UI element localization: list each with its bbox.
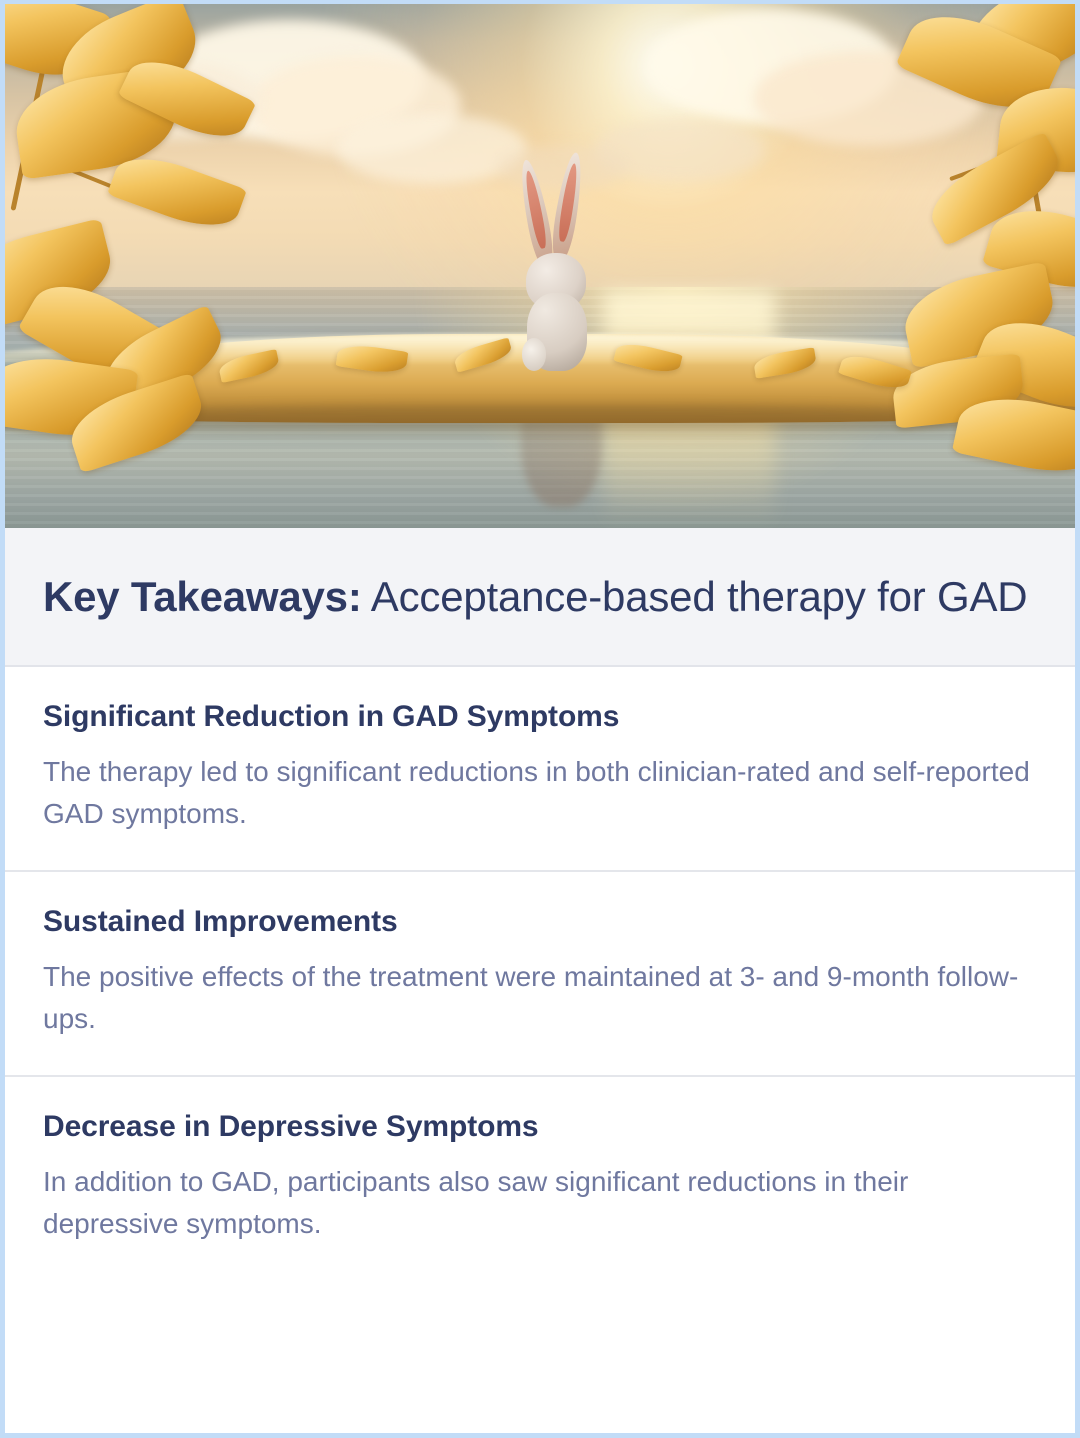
takeaway-title: Sustained Improvements [43, 905, 1037, 939]
list-item: Significant Reduction in GAD Symptoms Th… [5, 667, 1075, 872]
list-item: Decrease in Depressive Symptoms In addit… [5, 1077, 1075, 1280]
page-title: Key Takeaways: Acceptance-based therapy … [43, 570, 1037, 625]
takeaway-description: In addition to GAD, participants also sa… [43, 1161, 1037, 1246]
list-item: Sustained Improvements The positive effe… [5, 872, 1075, 1077]
rabbit-icon [521, 159, 602, 363]
hero-image [5, 4, 1075, 528]
rabbit-ear-right [548, 151, 586, 263]
takeaway-title: Significant Reduction in GAD Symptoms [43, 700, 1037, 734]
rabbit-ear-inner [556, 163, 580, 243]
key-takeaways-header: Key Takeaways: Acceptance-based therapy … [5, 528, 1075, 667]
page-title-rest: Acceptance-based therapy for GAD [362, 573, 1028, 620]
page-title-lead: Key Takeaways: [43, 573, 362, 620]
rabbit-ear-inner [522, 169, 549, 249]
takeaway-description: The positive effects of the treatment we… [43, 956, 1037, 1041]
rabbit-tail [522, 338, 546, 371]
takeaway-description: The therapy led to significant reduction… [43, 751, 1037, 836]
cloud-icon [337, 114, 527, 184]
key-takeaways-card: Key Takeaways: Acceptance-based therapy … [0, 0, 1080, 1438]
takeaways-list: Significant Reduction in GAD Symptoms Th… [5, 667, 1075, 1280]
takeaway-title: Decrease in Depressive Symptoms [43, 1110, 1037, 1144]
hero-scene [5, 4, 1075, 528]
